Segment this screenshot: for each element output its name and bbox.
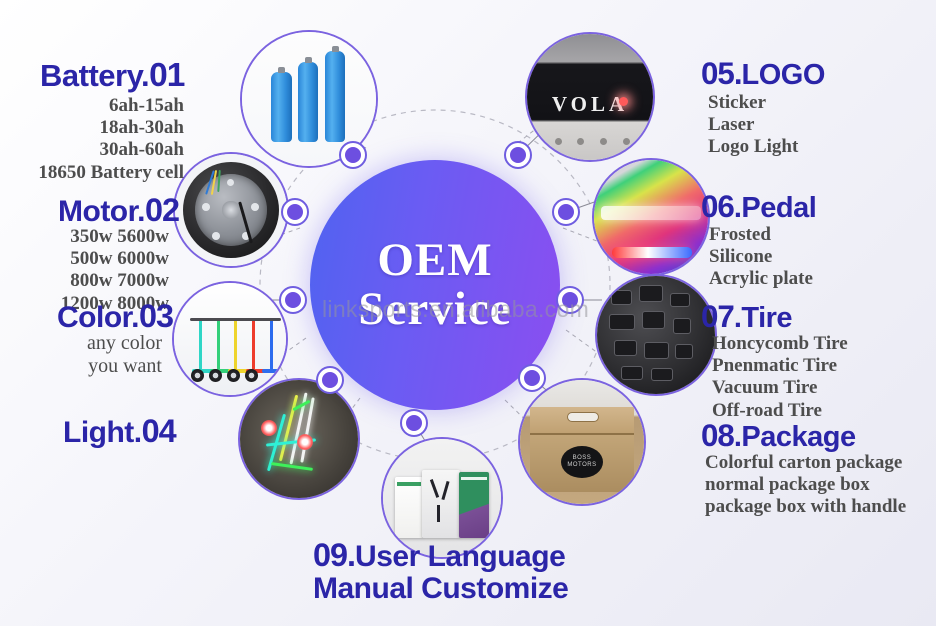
- sub-package: Colorful carton package normal package b…: [705, 452, 906, 519]
- node-package: [518, 364, 546, 392]
- center-title-line1: OEM: [377, 237, 492, 284]
- sub-logo-line-2: Laser: [708, 114, 798, 136]
- sub-pedal-line-1: Frosted: [709, 224, 813, 246]
- sub-pedal: Frosted Silicone Acrylic plate: [709, 224, 813, 291]
- node-color: [279, 286, 307, 314]
- heading-battery: Battery.01: [40, 57, 184, 95]
- sub-tire-line-2: Pnenmatic Tire: [712, 355, 848, 377]
- vola-logo-text: VOLA: [527, 92, 653, 117]
- infographic-canvas: BOSS MOTORS VOLA: [0, 0, 936, 626]
- center-title-line2: Service: [358, 286, 511, 333]
- sub-tire-line-3: Vacuum Tire: [712, 377, 848, 399]
- node-tire: [556, 286, 584, 314]
- heading-light-title: Light.: [63, 416, 142, 449]
- photo-rgb-pedal: [592, 158, 710, 276]
- sub-tire: Honcycomb Tire Pnenmatic Tire Vacuum Tir…: [712, 333, 848, 422]
- photo-neon-light-scooter: [238, 378, 360, 500]
- heading-motor-title: Motor.: [58, 195, 145, 228]
- photo-hub-motor: [173, 152, 289, 268]
- sub-motor-line-2: 500w 6000w: [14, 248, 169, 270]
- heading-color-number: 03: [139, 298, 173, 334]
- node-light: [316, 366, 344, 394]
- sub-battery: 6ah-15ah 18ah-30ah 30ah-60ah 18650 Batte…: [14, 95, 184, 184]
- heading-logo-number: 05.: [701, 56, 742, 91]
- heading-pedal-title: .Pedal: [734, 192, 816, 224]
- heading-manual-number: 09.: [313, 537, 355, 573]
- sub-package-line-1: Colorful carton package: [705, 452, 906, 474]
- sub-package-line-2: normal package box: [705, 474, 906, 496]
- node-manual: [400, 409, 428, 437]
- node-logo: [504, 141, 532, 169]
- sub-battery-line-1: 6ah-15ah: [14, 95, 184, 117]
- sub-logo-line-3: Logo Light: [708, 136, 798, 158]
- heading-package-number: 08: [701, 418, 734, 453]
- sub-battery-line-4: 18650 Battery cell: [14, 162, 184, 184]
- sub-color: any color you want: [14, 332, 162, 379]
- box-logo-text: BOSS MOTORS: [561, 446, 603, 478]
- heading-tire-title: .Tire: [734, 302, 792, 334]
- heading-package-title: .Package: [734, 421, 856, 453]
- sub-logo-line-1: Sticker: [708, 92, 798, 114]
- logo-light-dot: [619, 97, 628, 106]
- sub-logo: Sticker Laser Logo Light: [708, 92, 798, 159]
- sub-color-line-1: any color: [14, 332, 162, 355]
- node-motor: [281, 198, 309, 226]
- heading-color: Color.03: [57, 298, 173, 335]
- heading-logo: 05.LOGO: [701, 56, 825, 92]
- heading-battery-number: 01: [149, 57, 184, 94]
- sub-package-line-3: package box with handle: [705, 496, 906, 518]
- heading-tire: 07.Tire: [701, 299, 792, 335]
- node-battery: [339, 141, 367, 169]
- sub-color-line-2: you want: [14, 355, 162, 378]
- sub-pedal-line-2: Silicone: [709, 246, 813, 268]
- heading-pedal-number: 06: [701, 189, 734, 224]
- node-pedal: [552, 198, 580, 226]
- heading-color-title: Color.: [57, 301, 139, 334]
- heading-manual-title2: Manual Customize: [313, 572, 568, 605]
- sub-pedal-line-3: Acrylic plate: [709, 268, 813, 290]
- heading-package: 08.Package: [701, 418, 856, 454]
- heading-motor-number: 02: [145, 192, 179, 228]
- photo-vola-logo: VOLA: [525, 32, 655, 162]
- heading-tire-number: 07: [701, 299, 734, 334]
- sub-battery-line-2: 18ah-30ah: [14, 117, 184, 139]
- heading-pedal: 06.Pedal: [701, 189, 816, 225]
- photo-tire-tread: [595, 274, 717, 396]
- sub-battery-line-3: 30ah-60ah: [14, 139, 184, 161]
- heading-manual: 09.User Language Manual Customize: [313, 538, 568, 606]
- heading-motor: Motor.02: [58, 192, 179, 229]
- heading-manual-title: User Language: [355, 540, 565, 573]
- heading-light-number: 04: [142, 413, 176, 449]
- heading-battery-title: Battery.: [40, 58, 149, 93]
- sub-motor-line-1: 350w 5600w: [14, 226, 169, 248]
- photo-carton-box: BOSS MOTORS: [518, 378, 646, 506]
- sub-tire-line-1: Honcycomb Tire: [712, 333, 848, 355]
- sub-motor-line-3: 800w 7000w: [14, 270, 169, 292]
- heading-logo-title: LOGO: [742, 59, 825, 91]
- heading-light: Light.04: [63, 413, 176, 450]
